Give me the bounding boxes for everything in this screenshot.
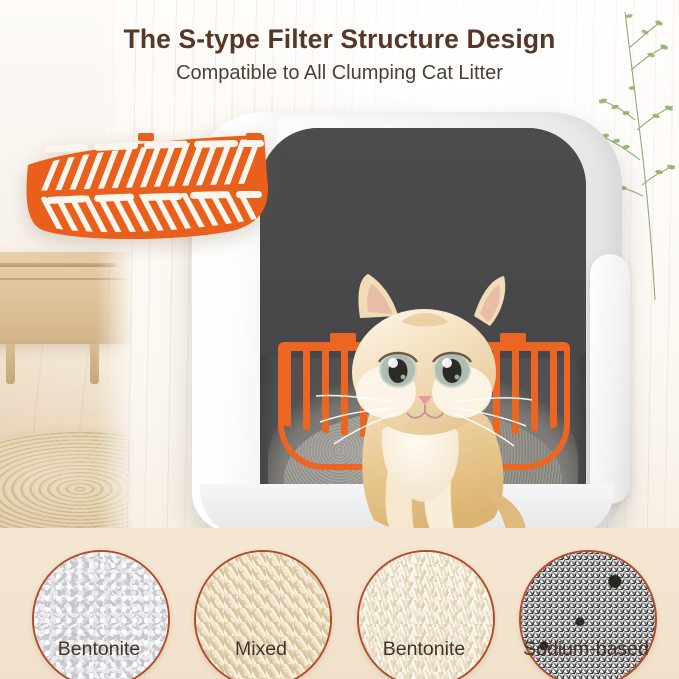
kitten-photo [298, 262, 548, 540]
litter-swatch-label: Sodium-based [501, 638, 671, 661]
sideboard-leg [6, 344, 15, 384]
headline-block: The S-type Filter Structure Design Compa… [0, 24, 679, 85]
litter-swatch-label: Mixed [176, 638, 346, 661]
s-type-filter-callout [18, 133, 276, 241]
product-marketing-image: The S-type Filter Structure Design Compa… [0, 0, 679, 679]
appliance-side-column [590, 254, 630, 504]
page-subtitle: Compatible to All Clumping Cat Litter [0, 62, 679, 85]
page-title: The S-type Filter Structure Design [0, 24, 679, 55]
litter-swatch-label: Bentonite [14, 638, 184, 661]
litter-compatibility-strip: Bentonite Mixed Bentonite Sodium-based [0, 528, 679, 679]
litter-swatch-label: Bentonite [339, 638, 509, 661]
